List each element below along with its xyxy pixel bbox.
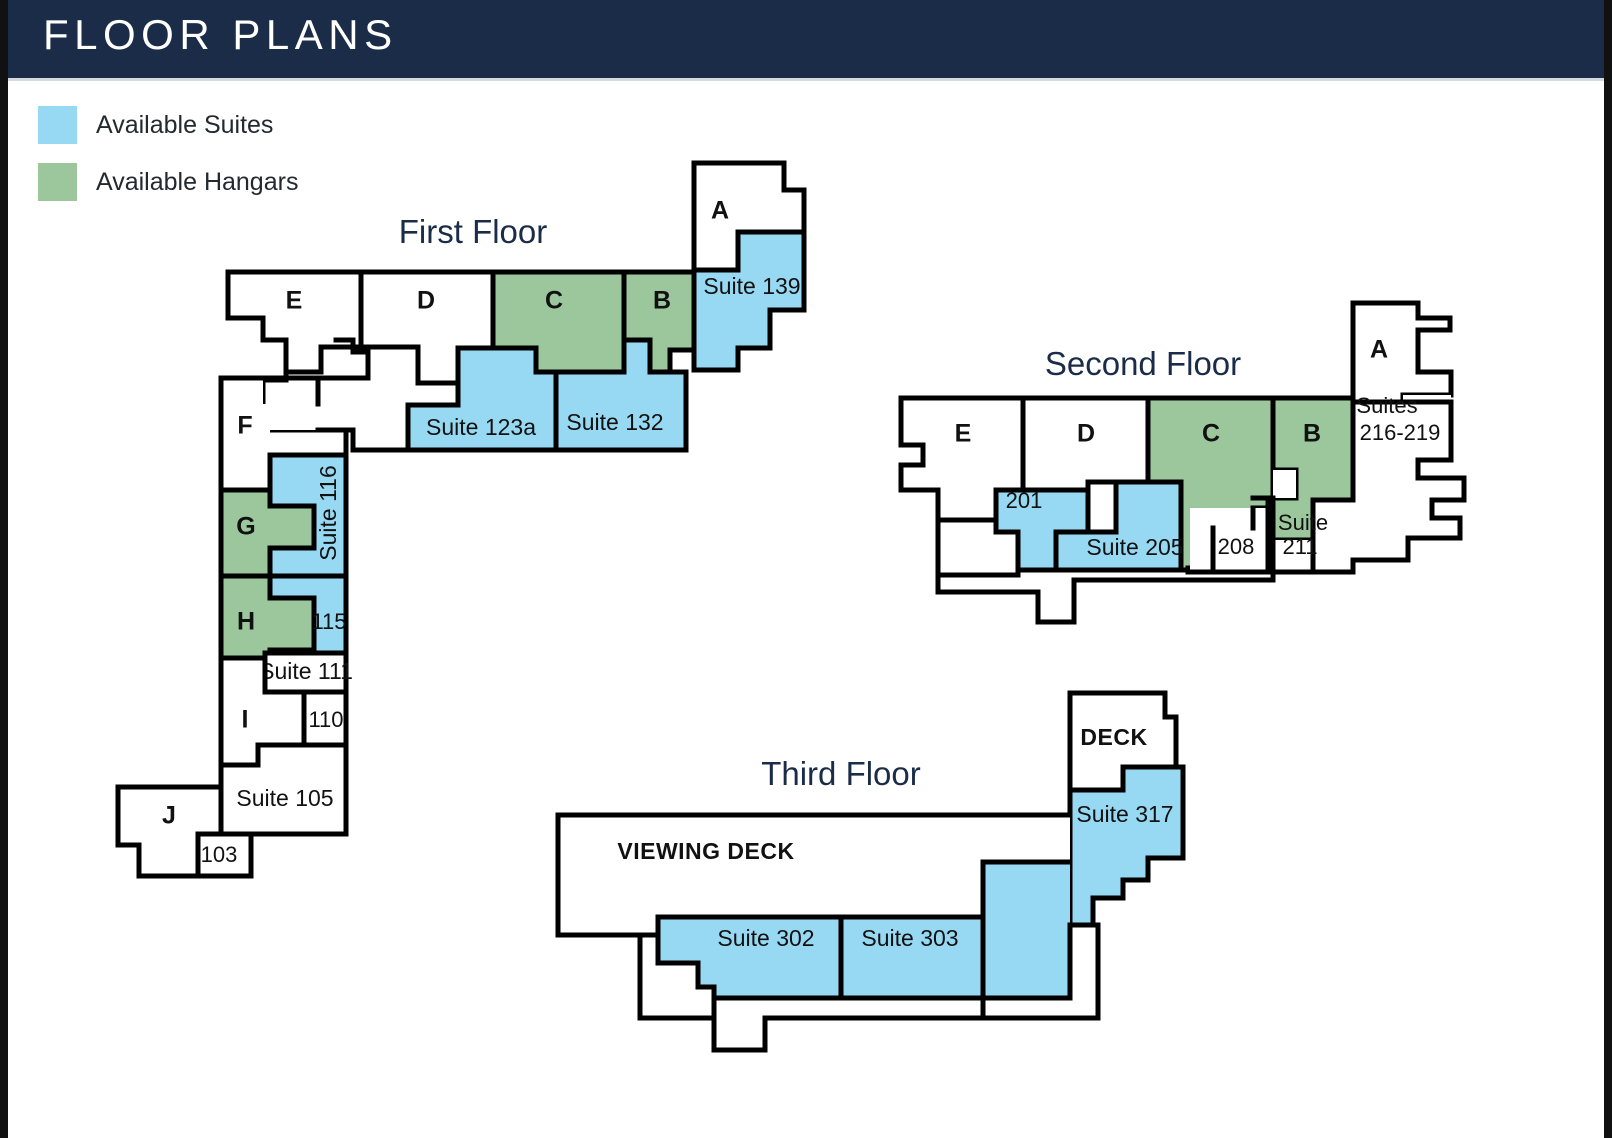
room-label-a: A — [711, 197, 729, 225]
second-floor-suites-216-219[interactable]: Suites 216-219 — [1353, 393, 1464, 560]
room-label-g: G — [236, 513, 255, 541]
third-floor-connector — [983, 862, 1070, 998]
room-label-suite-211-a: Suite — [1278, 510, 1328, 535]
room-label-d: D — [417, 287, 435, 315]
room-label-c: C — [545, 287, 563, 315]
third-floor-suite-317[interactable]: Suite 317 — [1070, 767, 1183, 925]
room-label-103: 103 — [201, 842, 238, 867]
room-label-e: E — [286, 287, 303, 315]
room-label-suite-303: Suite 303 — [861, 925, 958, 951]
room-label-201: 201 — [1006, 488, 1043, 513]
second-floor-plan: Second Floor A Suites 216-219 E — [901, 303, 1464, 622]
room-label-suites-216-b: 216-219 — [1360, 420, 1441, 445]
page-canvas: FLOOR PLANS Available Suites Available H… — [8, 0, 1604, 1138]
third-floor-suite-303[interactable]: Suite 303 — [841, 917, 983, 998]
room-label-b: B — [653, 287, 671, 315]
room-label-h: H — [237, 608, 255, 636]
first-floor-room-f[interactable]: F — [221, 378, 318, 462]
second-floor-room-a[interactable]: A — [1353, 303, 1451, 402]
room-label-c2: C — [1202, 420, 1220, 448]
room-label-suite-116: Suite 116 — [315, 465, 341, 560]
room-label-suite-317: Suite 317 — [1076, 801, 1173, 827]
room-label-suite-302: Suite 302 — [717, 925, 814, 951]
second-floor-suite-208[interactable]: 208 — [1188, 498, 1268, 572]
room-label-j: J — [162, 802, 176, 830]
first-floor-suite-111[interactable]: Suite 111 — [259, 653, 353, 692]
room-label-e2: E — [955, 420, 972, 448]
first-floor-room-e[interactable]: E — [228, 272, 361, 372]
first-floor-suite-103[interactable]: 103 — [198, 834, 251, 876]
room-label-115: 115 — [311, 609, 346, 634]
first-floor-wall-corridor — [318, 352, 368, 378]
floor-plans-svg: First Floor A Suite 139 E — [8, 0, 1604, 1138]
room-label-suite-123a: Suite 123a — [426, 414, 536, 440]
room-label-i: I — [242, 706, 249, 734]
room-label-suite-205: Suite 205 — [1086, 534, 1183, 560]
third-floor-title: Third Floor — [761, 755, 921, 792]
first-floor-suite-110[interactable]: 110 — [304, 692, 346, 745]
room-label-208: 208 — [1218, 534, 1255, 559]
room-label-a2: A — [1370, 336, 1388, 364]
room-label-suite-211-b: 211 — [1282, 534, 1317, 559]
room-label-d2: D — [1077, 420, 1095, 448]
room-label-deck: DECK — [1080, 724, 1147, 750]
third-floor-suite-302[interactable]: Suite 302 — [658, 917, 841, 998]
room-label-suite-111: Suite 111 — [259, 658, 353, 684]
room-label-suites-216-a: Suites — [1356, 393, 1417, 418]
first-floor-wall-top-116 — [318, 430, 346, 455]
first-floor-plan: First Floor A Suite 139 E — [118, 163, 804, 876]
room-label-b2: B — [1303, 420, 1321, 448]
room-label-suite-139: Suite 139 — [703, 273, 800, 299]
first-floor-title: First Floor — [399, 213, 548, 250]
second-floor-title: Second Floor — [1045, 345, 1241, 382]
room-label-f: F — [237, 412, 252, 440]
room-label-suite-132: Suite 132 — [566, 409, 663, 435]
room-label-suite-105: Suite 105 — [236, 785, 333, 811]
room-label-viewing-deck: VIEWING DECK — [617, 838, 794, 864]
room-label-110: 110 — [308, 707, 343, 732]
third-floor-plan: Third Floor DECK Suite 317 VIEWING DECK — [558, 693, 1183, 1050]
